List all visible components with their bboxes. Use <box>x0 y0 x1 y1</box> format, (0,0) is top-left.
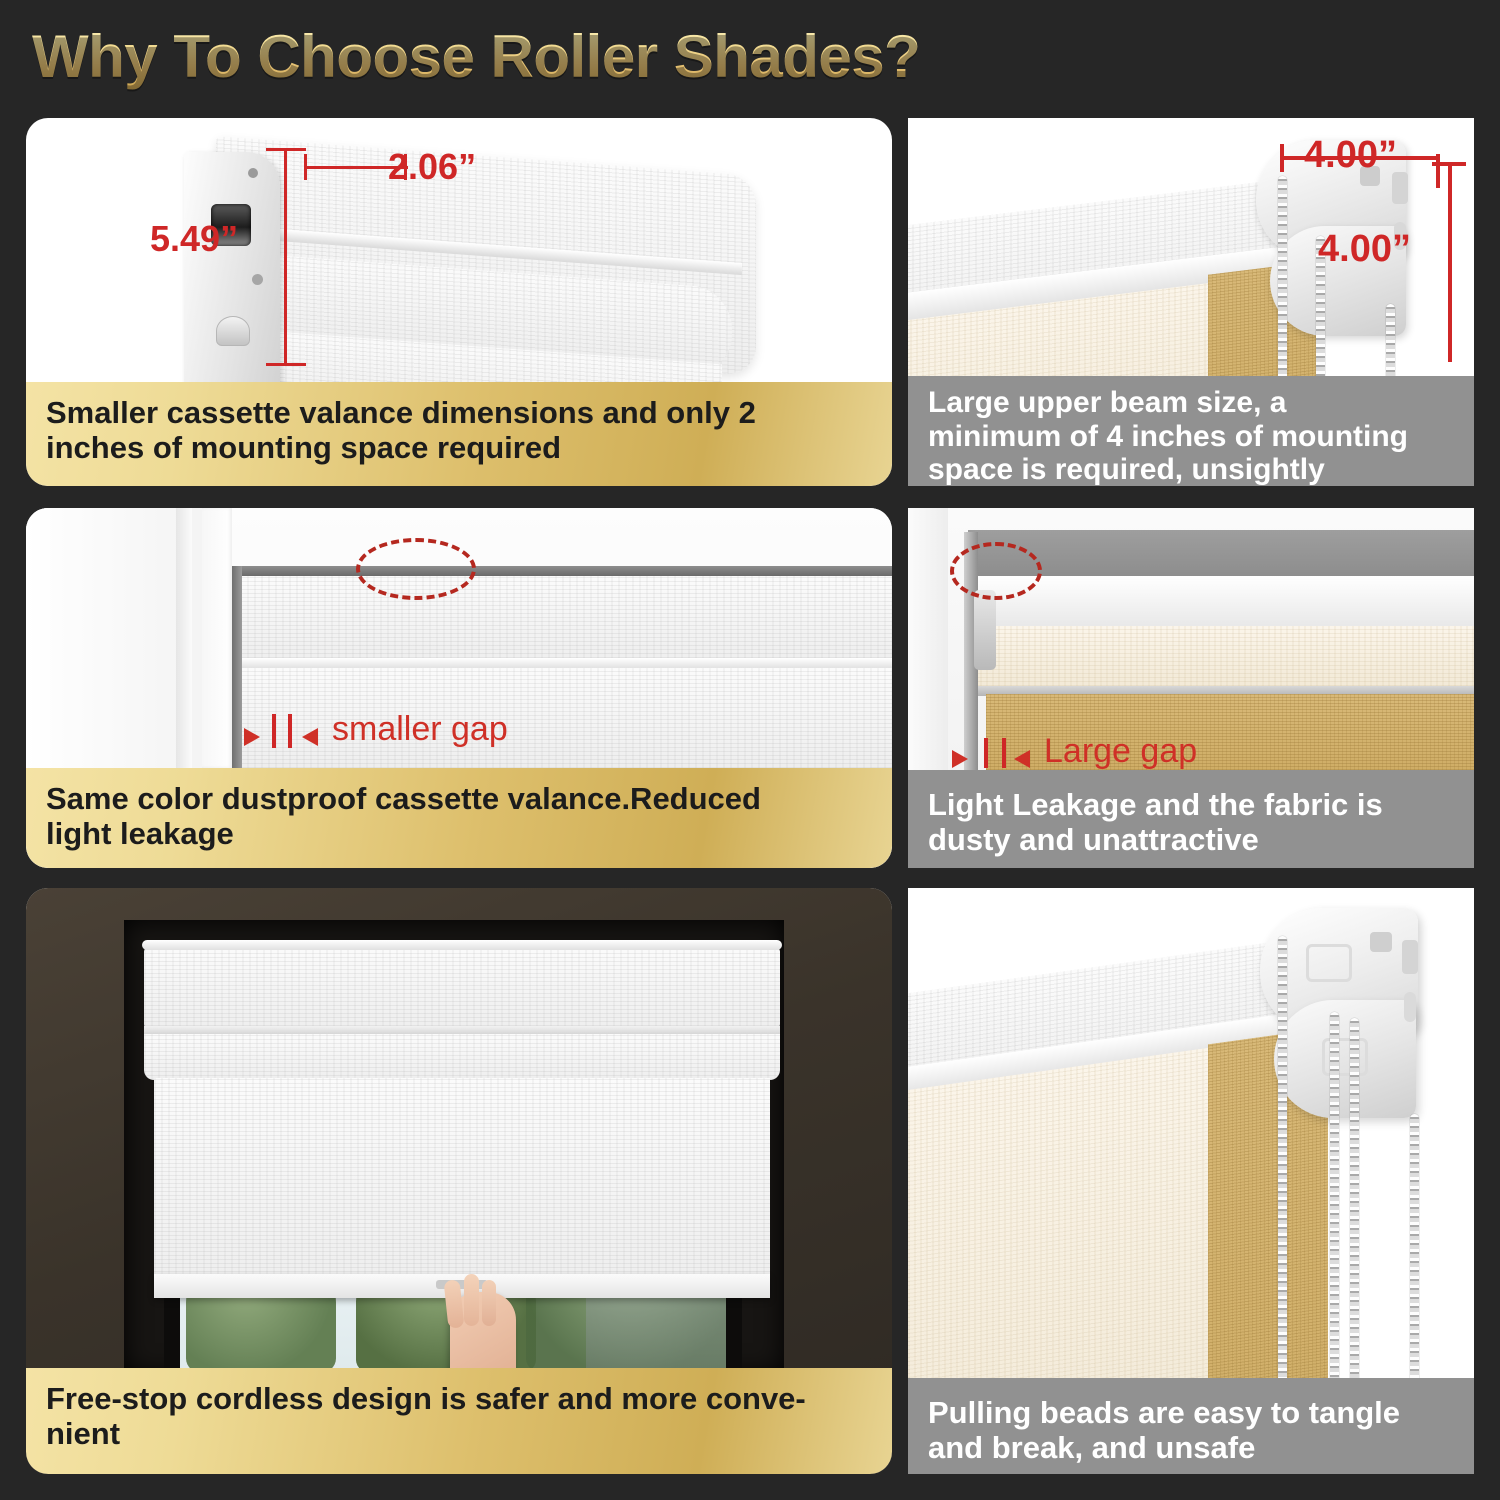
bracket-slot-3 <box>1404 992 1416 1022</box>
beam-width-tick-right <box>1436 154 1440 188</box>
gap-tick-left <box>272 714 276 748</box>
caption-smaller-gap: Same color dustproof cassette valance.Re… <box>26 768 892 868</box>
gap-arrow-left <box>302 728 318 746</box>
caption-upper-beam-dimensions: Large upper beam size, a minimum of 4 in… <box>908 376 1474 486</box>
width-dim-label: 2.06” <box>388 146 476 188</box>
caption-line: inches of mounting space required <box>46 431 874 466</box>
caption-line: Same color dustproof cassette valance.Re… <box>46 782 874 817</box>
caption-line: Light Leakage and the fabric is <box>928 788 1456 823</box>
gap-arrow-left <box>1014 750 1030 768</box>
wall-left <box>908 508 948 770</box>
caption-cassette-dimensions: Smaller cassette valance dimensions and … <box>26 382 892 486</box>
gap-tick-left <box>984 738 988 768</box>
caption-line: dusty and unattractive <box>928 823 1456 858</box>
bracket-slot-2 <box>1402 940 1418 974</box>
bracket-slot-1 <box>1370 932 1392 952</box>
caption-line: Free-stop cordless design is safer and m… <box>46 1382 874 1417</box>
caption-line: space is required, unsightly <box>928 453 1456 486</box>
middle-finger <box>464 1274 479 1326</box>
height-dim-tick-top <box>266 148 306 151</box>
gap-tick-right <box>288 714 292 748</box>
screw-mid <box>252 274 263 285</box>
casing-bevel-2 <box>202 508 232 768</box>
infographic-root: Why To Choose Roller Shades? 5.49” <box>0 0 1500 1500</box>
cassette-face <box>240 576 892 662</box>
panel-cordless-window: Free-stop cordless design is safer and m… <box>26 888 892 1474</box>
large-gap-label: Large gap <box>1044 732 1197 771</box>
caption-large-gap: Light Leakage and the fabric is dusty an… <box>908 770 1474 868</box>
caption-cordless-window: Free-stop cordless design is safer and m… <box>26 1368 892 1474</box>
cassette-side-edge <box>232 566 242 768</box>
caption-line: and break, and unsafe <box>928 1431 1456 1466</box>
cream-valance <box>968 626 1474 690</box>
roller-tube-white <box>968 576 1474 632</box>
shade-fabric-panel <box>154 1078 770 1280</box>
beam-shadow-band <box>968 530 1474 582</box>
bracket-emboss-upper <box>1306 944 1352 982</box>
caption-line: Large upper beam size, a <box>928 386 1456 420</box>
casing-bevel-1 <box>176 508 192 768</box>
panel-bead-chain: Pulling beads are easy to tangle and bre… <box>908 888 1474 1474</box>
panel-upper-beam-dimensions: 4.00” 4.00” Large upper beam size, a min… <box>908 118 1474 486</box>
panel-cassette-dimensions: 5.49” 2.06” Smaller cassette valance dim… <box>26 118 892 486</box>
height-dim-label: 5.49” <box>150 218 238 260</box>
bracket-emboss-lower <box>1322 1038 1368 1076</box>
caption-line: Pulling beads are easy to tangle <box>928 1396 1456 1431</box>
smaller-gap-label: smaller gap <box>332 710 508 749</box>
height-dim-tick-bottom <box>266 363 306 366</box>
beam-width-label: 4.00” <box>1304 134 1397 177</box>
screw-top <box>248 168 258 178</box>
cassette-end-cap <box>184 152 280 392</box>
width-dim-tick-left <box>304 154 307 180</box>
gap-arrow-right <box>244 728 260 746</box>
beam-width-tick-left <box>1280 144 1284 172</box>
gap-highlight-ellipse <box>950 542 1042 600</box>
page-title: Why To Choose Roller Shades? <box>32 22 920 91</box>
gap-tick-right <box>1002 738 1006 768</box>
ring-finger <box>482 1280 496 1326</box>
panel-smaller-gap: smaller gap Same color dustproof cassett… <box>26 508 892 868</box>
bracket-screw-boss <box>216 316 250 346</box>
end-plug <box>974 590 996 670</box>
tight-fit-highlight-ellipse <box>356 538 476 600</box>
roller-tube-front <box>144 1034 780 1080</box>
valance-top-trim <box>142 940 782 950</box>
panel-large-gap: Large gap Light Leakage and the fabric i… <box>908 508 1474 868</box>
gap-arrow-right <box>952 750 968 768</box>
caption-line: minimum of 4 inches of mounting <box>928 420 1456 454</box>
height-dim-line <box>284 148 287 366</box>
caption-line: Smaller cassette valance dimensions and … <box>46 396 874 431</box>
cassette-valance <box>144 946 780 1030</box>
caption-line: light leakage <box>46 817 874 852</box>
beam-height-tick-top <box>1432 162 1466 166</box>
beam-height-dim-line <box>1448 162 1452 362</box>
beam-height-label: 4.00” <box>1318 228 1411 271</box>
caption-bead-chain: Pulling beads are easy to tangle and bre… <box>908 1378 1474 1474</box>
caption-line: nient <box>46 1417 874 1452</box>
